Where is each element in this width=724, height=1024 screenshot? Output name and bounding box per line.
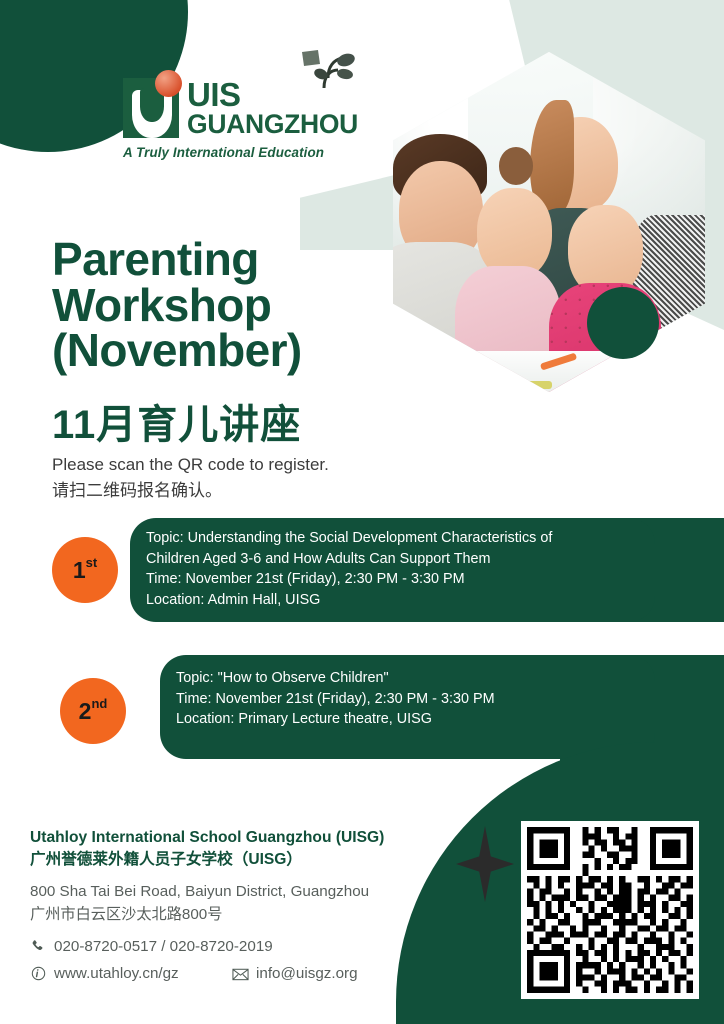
contact-email[interactable]: info@uisgz.org	[232, 965, 358, 982]
green-accent-circle	[587, 287, 659, 359]
phone-number: 020-8720-0517 / 020-8720-2019	[54, 938, 273, 955]
registration-instruction: Please scan the QR code to register. 请扫二…	[52, 452, 329, 504]
session-2-badge-number: 2	[79, 698, 92, 725]
qr-code-image	[521, 821, 699, 999]
session-1-badge-suffix: st	[86, 555, 98, 570]
poster-canvas: UIS GUANGZHOU A Truly International Educ…	[0, 0, 724, 1024]
session-2-badge-suffix: nd	[91, 696, 107, 711]
envelope-icon	[232, 965, 249, 982]
website-url: www.utahloy.cn/gz	[54, 965, 179, 982]
school-name: Utahloy International School Guangzhou (…	[30, 827, 384, 871]
uis-guangzhou-logo: UIS GUANGZHOU A Truly International Educ…	[123, 72, 351, 166]
session-1-details: Topic: Understanding the Social Developm…	[146, 528, 646, 610]
info-circle-icon	[30, 965, 47, 982]
contact-phone[interactable]: 020-8720-0517 / 020-8720-2019	[30, 938, 273, 955]
contact-website[interactable]: www.utahloy.cn/gz	[30, 965, 179, 982]
school-address: 800 Sha Tai Bei Road, Baiyun District, G…	[30, 881, 369, 927]
page-title-english: Parenting Workshop (November)	[52, 237, 412, 374]
session-2-details: Topic: "How to Observe Children" Time: N…	[176, 668, 646, 730]
logo-tagline: A Truly International Education	[123, 145, 324, 160]
logo-secondary-text: GUANGZHOU	[187, 109, 358, 140]
phone-icon	[30, 938, 47, 955]
email-address: info@uisgz.org	[256, 965, 358, 982]
logo-sphere-icon	[155, 70, 182, 97]
session-1-badge-number: 1	[73, 557, 86, 584]
session-2-badge: 2nd	[60, 678, 126, 744]
session-1-badge: 1st	[52, 537, 118, 603]
page-title-chinese: 11月育儿讲座	[52, 392, 301, 450]
registration-qr-code[interactable]	[521, 821, 699, 999]
